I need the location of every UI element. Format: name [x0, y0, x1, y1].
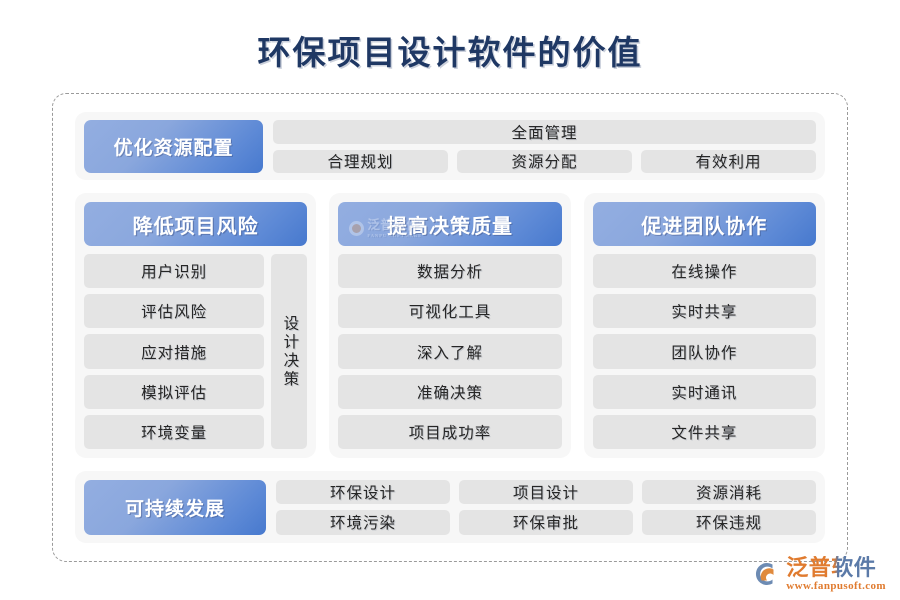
- chip-bottom-5[interactable]: 环保违规: [642, 510, 816, 535]
- brand-text: 泛普软件 www.fanpusoft.com: [786, 556, 886, 592]
- optimize-resources-sub-row: 合理规划 资源分配 有效利用: [273, 150, 816, 173]
- column-promote-collaboration: 促进团队协作 在线操作 实时共享 团队协作 实时通讯 文件共享: [584, 193, 825, 458]
- column-header-label: 提高决策质量: [387, 210, 513, 239]
- column-header-improve-decision-quality[interactable]: 提高决策质量 泛普软件 FANPU SOFTWARE: [338, 202, 561, 246]
- chip-risk-2[interactable]: 应对措施: [84, 334, 264, 368]
- section-header-sustainable-development[interactable]: 可持续发展: [84, 480, 266, 535]
- chip-bottom-4[interactable]: 环保审批: [459, 510, 633, 535]
- chip-decision-0[interactable]: 数据分析: [338, 254, 561, 288]
- chip-bottom-2[interactable]: 资源消耗: [642, 480, 816, 505]
- brand-url: www.fanpusoft.com: [786, 580, 886, 592]
- diagram-frame: 优化资源配置 全面管理 合理规划 资源分配 有效利用 降低项目风险 用户识别: [52, 93, 848, 562]
- chip-bottom-3[interactable]: 环境污染: [276, 510, 450, 535]
- chip-collab-0[interactable]: 在线操作: [593, 254, 816, 288]
- chip-bottom-1[interactable]: 项目设计: [459, 480, 633, 505]
- chip-full-management[interactable]: 全面管理: [273, 120, 816, 144]
- section-sustainable-development: 可持续发展 环保设计 项目设计 资源消耗 环境污染 环保审批 环保违规: [75, 471, 825, 543]
- chip-risk-0[interactable]: 用户识别: [84, 254, 264, 288]
- chip-decision-1[interactable]: 可视化工具: [338, 294, 561, 328]
- optimize-resources-full-row: 全面管理: [273, 120, 816, 144]
- chip-collab-4[interactable]: 文件共享: [593, 415, 816, 449]
- section-three-columns: 降低项目风险 用户识别 评估风险 应对措施 模拟评估 环境变量 设计决策 提高决…: [75, 193, 825, 458]
- column-header-promote-collaboration[interactable]: 促进团队协作: [593, 202, 816, 246]
- chip-risk-1[interactable]: 评估风险: [84, 294, 264, 328]
- column-list-promote-collaboration: 在线操作 实时共享 团队协作 实时通讯 文件共享: [593, 254, 816, 449]
- diagram-content: 优化资源配置 全面管理 合理规划 资源分配 有效利用 降低项目风险 用户识别: [75, 112, 825, 543]
- chip-top-2[interactable]: 有效利用: [641, 150, 816, 173]
- chip-decision-2[interactable]: 深入了解: [338, 334, 561, 368]
- column-improve-decision-quality: 提高决策质量 泛普软件 FANPU SOFTWARE 数据分析 可视化工具 深入…: [329, 193, 570, 458]
- column-body-reduce-risk: 用户识别 评估风险 应对措施 模拟评估 环境变量 设计决策: [84, 254, 307, 449]
- chip-design-decision-vertical[interactable]: 设计决策: [271, 254, 307, 449]
- section-header-optimize-resources[interactable]: 优化资源配置: [84, 120, 263, 173]
- column-reduce-risk: 降低项目风险 用户识别 评估风险 应对措施 模拟评估 环境变量 设计决策: [75, 193, 316, 458]
- sustainable-development-items: 环保设计 项目设计 资源消耗 环境污染 环保审批 环保违规: [276, 480, 816, 535]
- chip-collab-2[interactable]: 团队协作: [593, 334, 816, 368]
- chip-risk-3[interactable]: 模拟评估: [84, 375, 264, 409]
- optimize-resources-items: 全面管理 合理规划 资源分配 有效利用: [273, 120, 816, 173]
- chip-top-1[interactable]: 资源分配: [457, 150, 632, 173]
- brand-name: 泛普软件: [786, 556, 886, 579]
- chip-decision-3[interactable]: 准确决策: [338, 375, 561, 409]
- chip-top-0[interactable]: 合理规划: [273, 150, 448, 173]
- chip-decision-4[interactable]: 项目成功率: [338, 415, 561, 449]
- column-header-reduce-risk[interactable]: 降低项目风险: [84, 202, 307, 246]
- chip-risk-4[interactable]: 环境变量: [84, 415, 264, 449]
- brand-logo: 泛普软件 www.fanpusoft.com: [750, 556, 886, 592]
- chip-bottom-0[interactable]: 环保设计: [276, 480, 450, 505]
- column-list-improve-decision-quality: 数据分析 可视化工具 深入了解 准确决策 项目成功率: [338, 254, 561, 449]
- chip-collab-3[interactable]: 实时通讯: [593, 375, 816, 409]
- column-list-reduce-risk: 用户识别 评估风险 应对措施 模拟评估 环境变量: [84, 254, 264, 449]
- watermark-mark-icon: [349, 221, 364, 236]
- section-optimize-resources: 优化资源配置 全面管理 合理规划 资源分配 有效利用: [75, 112, 825, 180]
- column-body-improve-decision-quality: 数据分析 可视化工具 深入了解 准确决策 项目成功率: [338, 254, 561, 449]
- chip-collab-1[interactable]: 实时共享: [593, 294, 816, 328]
- page-title: 环保项目设计软件的价值: [0, 0, 900, 71]
- fanpu-logo-icon: [750, 559, 780, 589]
- column-body-promote-collaboration: 在线操作 实时共享 团队协作 实时通讯 文件共享: [593, 254, 816, 449]
